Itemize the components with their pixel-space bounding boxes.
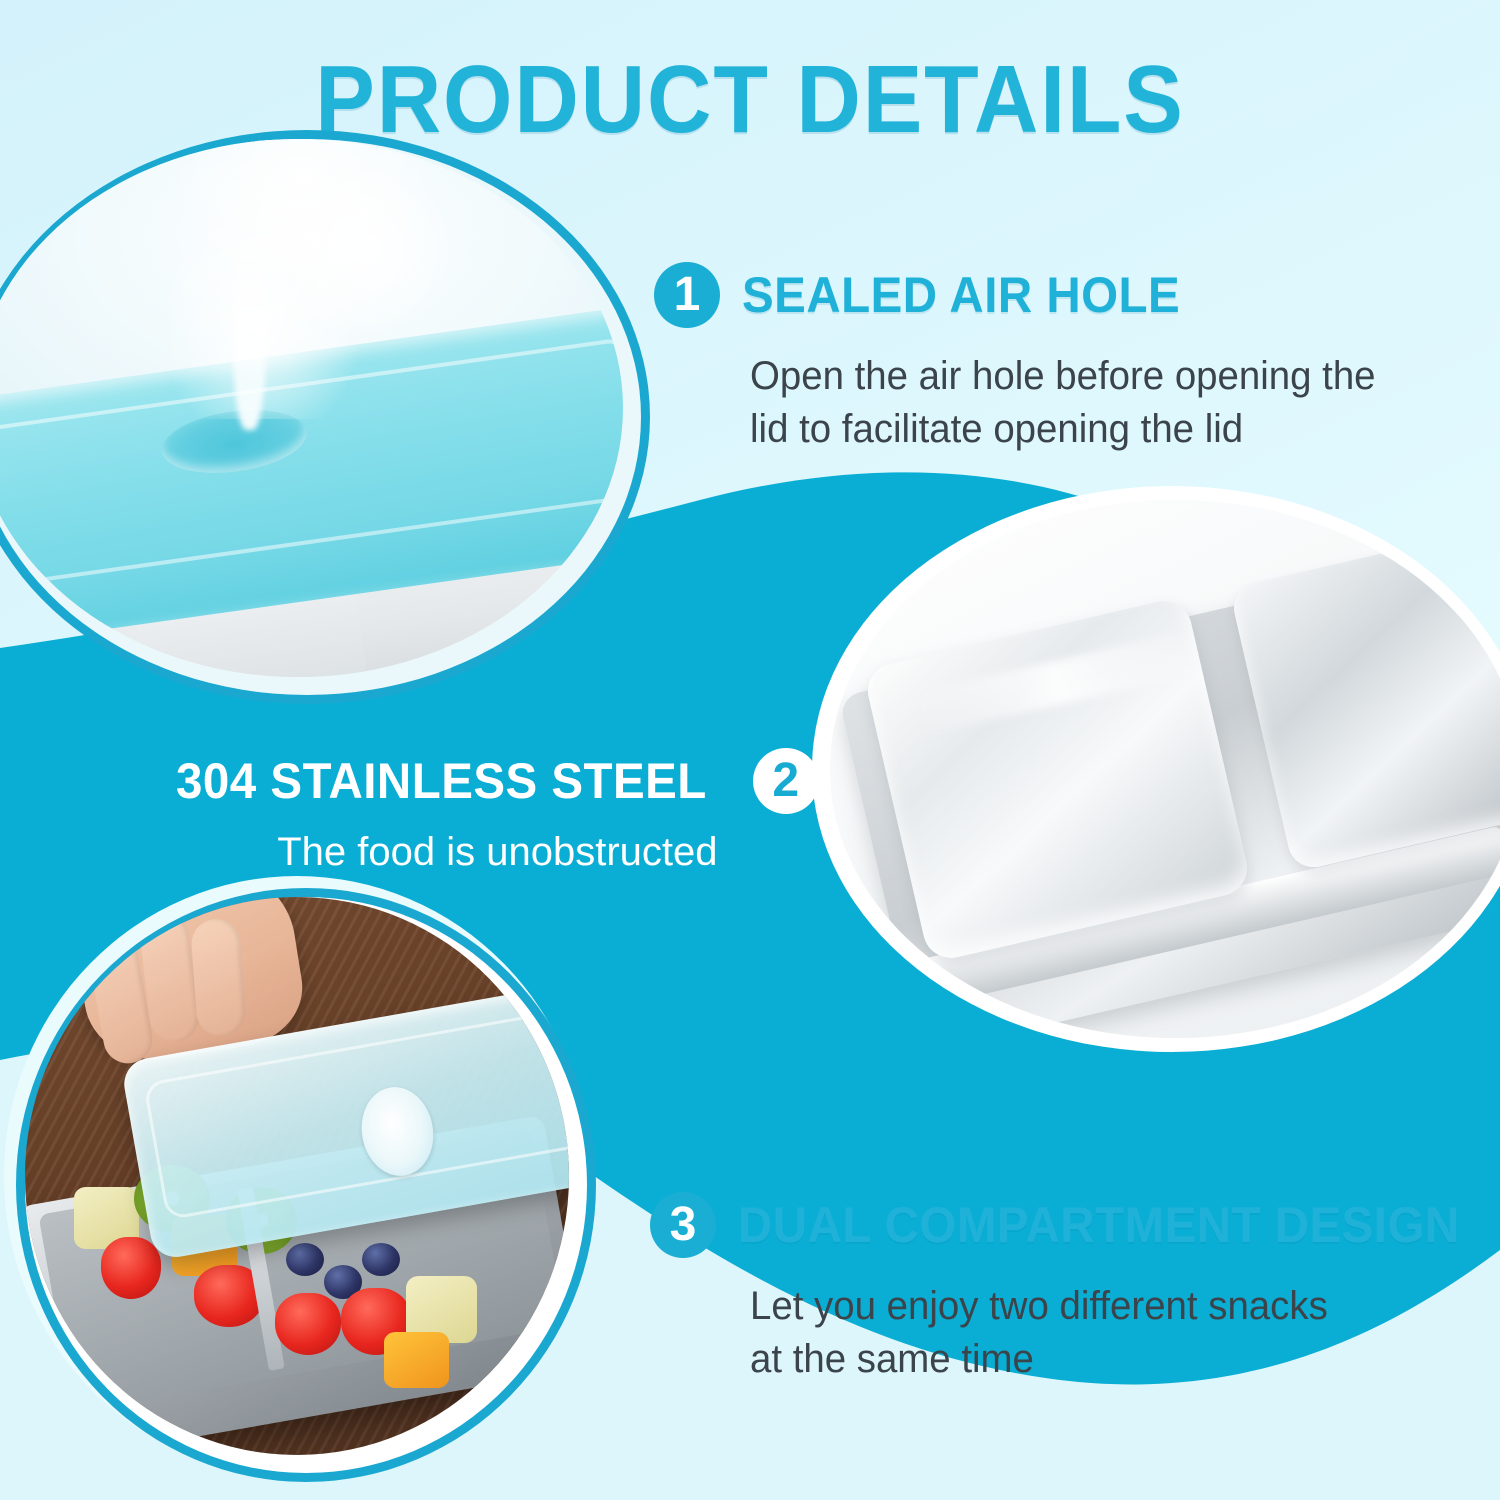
- product-details-infographic: PRODUCT DETAILS: [0, 0, 1500, 1500]
- photo-dual-compartment-fruit: [25, 897, 569, 1455]
- feature-1-body: Open the air hole before opening the lid…: [750, 350, 1376, 456]
- feature-1-heading-row: 1 SEALED AIR HOLE: [654, 262, 1402, 328]
- feature-block-3: 3 DUAL COMPARTMENT DESIGN Let you enjoy …: [650, 1192, 1498, 1386]
- feature-2-number-badge: 2: [753, 748, 819, 814]
- feature-3-heading-row: 3 DUAL COMPARTMENT DESIGN: [650, 1192, 1498, 1258]
- feature-1-number-badge: 1: [654, 262, 720, 328]
- feature-2-heading-row: 304 STAINLESS STEEL 2: [176, 748, 819, 814]
- feature-3-number-badge: 3: [650, 1192, 716, 1258]
- feature-3-heading: DUAL COMPARTMENT DESIGN: [738, 1200, 1460, 1250]
- feature-3-body: Let you enjoy two different snacks at th…: [750, 1280, 1468, 1386]
- feature-block-2: 304 STAINLESS STEEL 2 The food is unobst…: [176, 748, 819, 879]
- feature-2-heading: 304 STAINLESS STEEL: [176, 756, 707, 806]
- feature-2-body: The food is unobstructed: [176, 826, 819, 879]
- feature-1-heading: SEALED AIR HOLE: [742, 270, 1180, 320]
- feature-block-1: 1 SEALED AIR HOLE Open the air hole befo…: [654, 262, 1402, 456]
- photo-sealed-air-hole: [0, 139, 623, 677]
- photo-stainless-steel-tray: [830, 500, 1500, 1038]
